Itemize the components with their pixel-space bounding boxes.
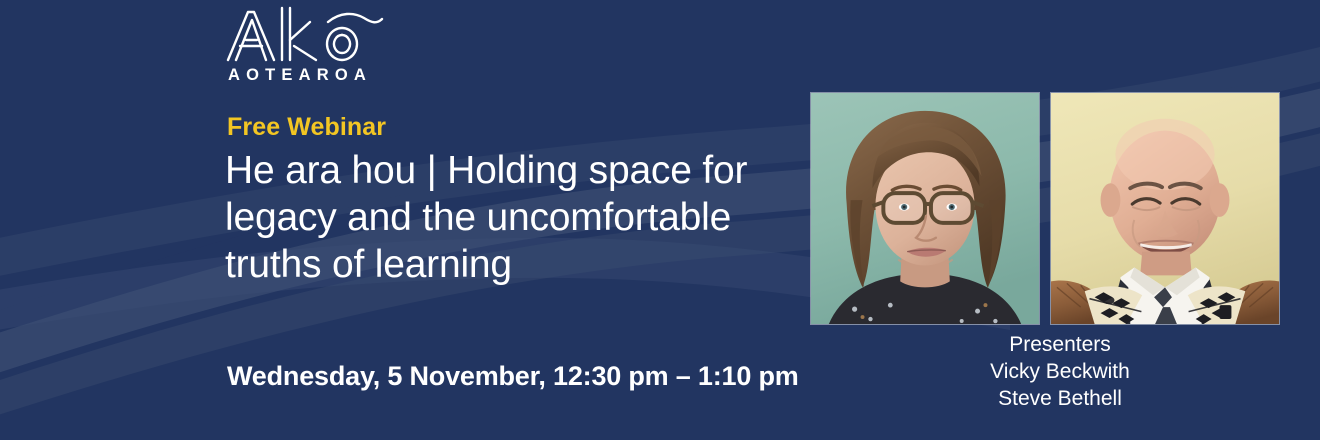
presenters-caption: Presenters Vicky Beckwith Steve Bethell xyxy=(950,331,1170,412)
ako-aotearoa-logo: AOTEAROA xyxy=(224,6,396,90)
presenter-photo-steve-bethell xyxy=(1050,92,1280,325)
headline-line-1: He ara hou | Holding space for xyxy=(225,147,825,194)
free-webinar-eyebrow: Free Webinar xyxy=(227,113,386,142)
ako-wordmark-icon xyxy=(224,6,384,64)
webinar-banner: AOTEAROA Free Webinar He ara hou | Holdi… xyxy=(0,0,1320,440)
presenter-name-2: Steve Bethell xyxy=(950,385,1170,412)
presenters-label: Presenters xyxy=(950,331,1170,358)
presenter-photo-vicky-beckwith xyxy=(810,92,1040,325)
event-datetime: Wednesday, 5 November, 12:30 pm – 1:10 p… xyxy=(227,361,799,392)
headline-line-2: legacy and the uncomfortable xyxy=(225,194,825,241)
page-title: He ara hou | Holding space for legacy an… xyxy=(225,147,825,288)
headline-line-3: truths of learning xyxy=(225,241,825,288)
logo-subtitle: AOTEAROA xyxy=(228,66,372,85)
presenter-name-1: Vicky Beckwith xyxy=(950,358,1170,385)
